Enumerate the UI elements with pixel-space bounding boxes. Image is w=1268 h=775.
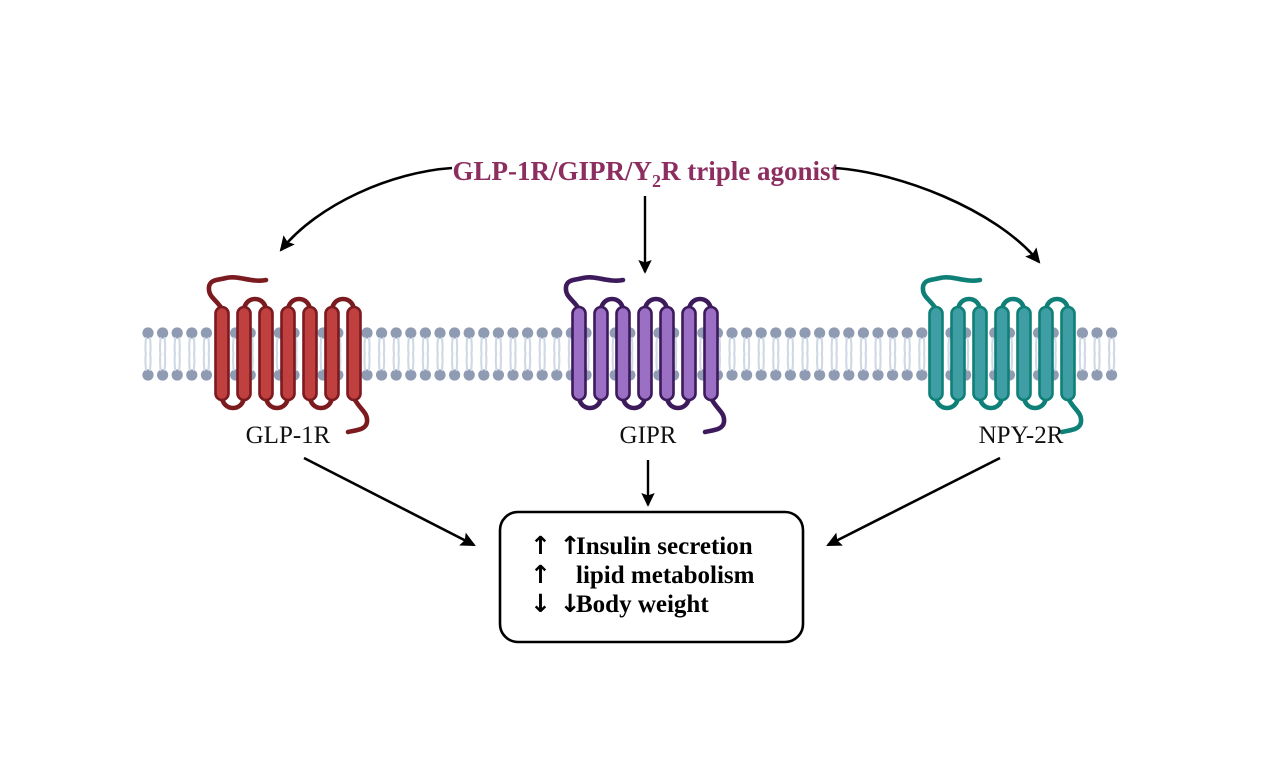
lipid-molecule xyxy=(1106,354,1117,381)
transmembrane-helix xyxy=(595,307,608,400)
title-prefix: GLP-1R/GIPR/Y xyxy=(453,156,653,186)
transmembrane-helix xyxy=(996,307,1009,400)
lipid-molecule xyxy=(799,327,810,354)
lipid-molecule xyxy=(843,327,854,354)
lipid-molecule xyxy=(858,354,869,381)
lipid-molecule xyxy=(434,327,445,354)
lipid-molecule xyxy=(858,327,869,354)
lipid-molecule xyxy=(843,354,854,381)
lipid-molecule xyxy=(537,327,548,354)
lipid-molecule xyxy=(493,354,504,381)
lipid-molecule xyxy=(872,354,883,381)
lipid-molecule xyxy=(537,354,548,381)
lipid-molecule xyxy=(1106,327,1117,354)
lipid-molecule xyxy=(376,354,387,381)
receptor-label-npy-2r: NPY-2R xyxy=(979,422,1064,449)
arrow-glp1r-to-outcomes xyxy=(304,458,474,545)
lipid-molecule xyxy=(1091,327,1102,354)
lipid-molecule xyxy=(741,354,752,381)
lipid-molecule xyxy=(829,354,840,381)
lipid-molecule xyxy=(405,354,416,381)
lipid-molecule xyxy=(770,354,781,381)
lipid-molecule xyxy=(522,354,533,381)
receptor-n-terminus xyxy=(566,277,623,309)
transmembrane-helix xyxy=(348,307,361,400)
lipid-molecule xyxy=(522,327,533,354)
transmembrane-helix xyxy=(930,307,943,400)
lipid-molecule xyxy=(814,327,825,354)
outcomes-box[interactable]: ↑ ↑Insulin secretion↑lipid metabolism↓ ↓… xyxy=(500,512,803,642)
lipid-molecule xyxy=(434,354,445,381)
receptor-npy-2r[interactable] xyxy=(923,277,1081,432)
lipid-molecule xyxy=(507,354,518,381)
lipid-molecule xyxy=(756,327,767,354)
lipid-molecule xyxy=(872,327,883,354)
transmembrane-helix xyxy=(617,307,630,400)
lipid-molecule xyxy=(186,354,197,381)
lipid-molecule xyxy=(493,327,504,354)
lipid-molecule xyxy=(770,327,781,354)
outcome-label: lipid metabolism xyxy=(576,562,755,589)
lipid-molecule xyxy=(420,354,431,381)
receptor-label-glp-1r: GLP-1R xyxy=(246,422,331,449)
lipid-molecule xyxy=(478,354,489,381)
lipid-molecule xyxy=(887,327,898,354)
lipid-molecule xyxy=(478,327,489,354)
lipid-molecule xyxy=(142,354,153,381)
lipid-molecule xyxy=(391,354,402,381)
transmembrane-helix xyxy=(304,307,317,400)
receptor-label-gipr: GIPR xyxy=(620,422,677,449)
outcome-label: Insulin secretion xyxy=(576,533,753,560)
lipid-molecule xyxy=(157,354,168,381)
receptor-n-terminus xyxy=(209,277,266,309)
lipid-molecule xyxy=(551,354,562,381)
outcome-direction-arrows: ↑ ↑ xyxy=(530,531,581,560)
transmembrane-helix xyxy=(1040,307,1053,400)
lipid-molecule xyxy=(1077,354,1088,381)
transmembrane-helix xyxy=(1018,307,1031,400)
lipid-molecule xyxy=(391,327,402,354)
lipid-molecule xyxy=(201,354,212,381)
lipid-molecule xyxy=(726,327,737,354)
lipid-molecule xyxy=(172,354,183,381)
receptor-c-terminus xyxy=(1062,398,1081,432)
transmembrane-helix xyxy=(1062,307,1075,400)
lipid-molecule xyxy=(376,327,387,354)
lipid-molecule xyxy=(785,327,796,354)
lipid-molecule xyxy=(449,327,460,354)
lipid-molecule xyxy=(551,327,562,354)
lipid-molecule xyxy=(186,327,197,354)
lipid-molecule xyxy=(464,327,475,354)
lipid-molecule xyxy=(829,327,840,354)
lipid-molecule xyxy=(814,354,825,381)
transmembrane-helix xyxy=(326,307,339,400)
transmembrane-helix xyxy=(683,307,696,400)
transmembrane-helix xyxy=(216,307,229,400)
lipid-molecule xyxy=(420,327,431,354)
lipid-molecule xyxy=(902,327,913,354)
lipid-molecule xyxy=(201,327,212,354)
transmembrane-helix xyxy=(661,307,674,400)
lipid-molecule xyxy=(785,354,796,381)
title-subscript: 2 xyxy=(652,171,661,191)
lipid-molecule xyxy=(887,354,898,381)
lipid-molecule xyxy=(157,327,168,354)
lipid-molecule xyxy=(1091,354,1102,381)
lipid-molecule xyxy=(916,327,927,354)
lipid-molecule xyxy=(799,354,810,381)
lipid-molecule xyxy=(361,327,372,354)
lipid-molecule xyxy=(726,354,737,381)
transmembrane-helix xyxy=(705,307,718,400)
receptor-c-terminus xyxy=(348,398,367,432)
title-suffix: R triple agonist xyxy=(661,156,840,186)
transmembrane-helix xyxy=(639,307,652,400)
lipid-molecule xyxy=(741,327,752,354)
lipid-molecule xyxy=(1077,327,1088,354)
transmembrane-helix xyxy=(573,307,586,400)
transmembrane-helix xyxy=(260,307,273,400)
arrow-agonist-to-glp1r xyxy=(281,168,452,250)
lipid-molecule xyxy=(507,327,518,354)
lipid-molecule xyxy=(449,354,460,381)
arrow-agonist-to-npy2r xyxy=(835,168,1039,262)
transmembrane-helix xyxy=(282,307,295,400)
outcome-direction-arrows: ↓ ↓ xyxy=(530,589,581,618)
outcome-direction-arrows: ↑ xyxy=(530,560,551,589)
outcome-label: Body weight xyxy=(576,591,709,618)
transmembrane-helix xyxy=(952,307,965,400)
pathway-diagram: GLP-1R/GIPR/Y2R triple agonist GLP-1R GI… xyxy=(0,0,1268,775)
arrow-npy2r-to-outcomes xyxy=(828,458,1000,545)
transmembrane-helix xyxy=(238,307,251,400)
lipid-molecule xyxy=(405,327,416,354)
lipid-molecule xyxy=(916,354,927,381)
lipid-molecule xyxy=(142,327,153,354)
page-title: GLP-1R/GIPR/Y2R triple agonist xyxy=(453,156,840,191)
lipid-molecule xyxy=(172,327,183,354)
lipid-molecule xyxy=(756,354,767,381)
lipid-molecule xyxy=(464,354,475,381)
lipid-molecule xyxy=(361,354,372,381)
receptor-c-terminus xyxy=(705,398,724,432)
transmembrane-helix xyxy=(974,307,987,400)
receptor-n-terminus xyxy=(923,277,980,309)
figure-canvas: GLP-1R/GIPR/Y2R triple agonist GLP-1R GI… xyxy=(0,0,1268,775)
lipid-molecule xyxy=(902,354,913,381)
